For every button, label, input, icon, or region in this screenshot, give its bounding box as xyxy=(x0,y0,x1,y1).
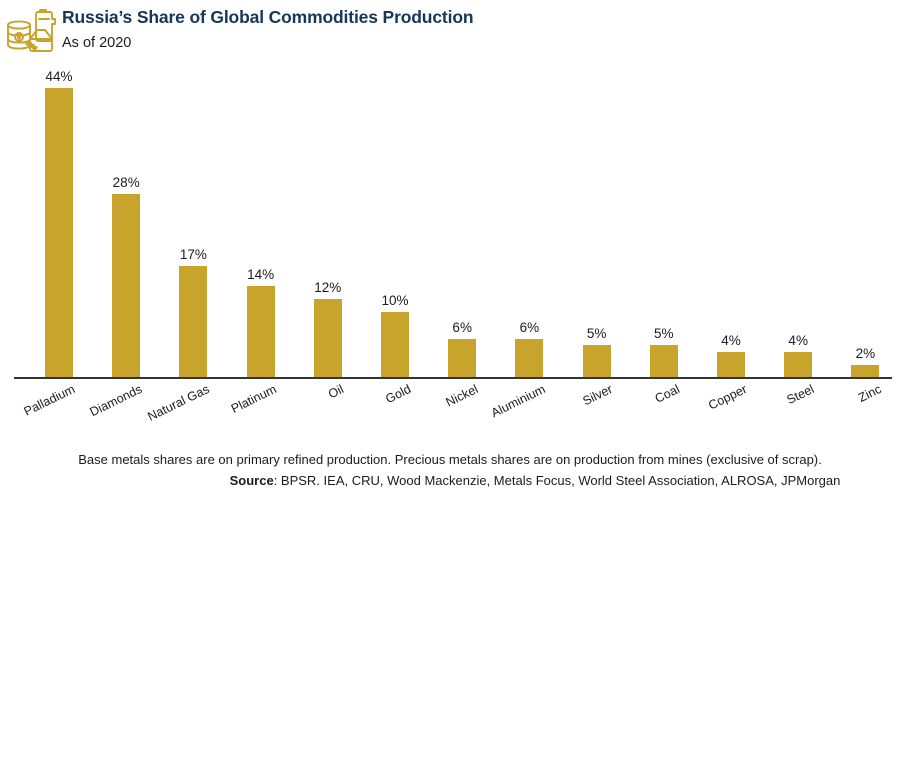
chart-header: Russia’s Share of Global Commodities Pro… xyxy=(0,0,900,62)
bar-group-diamonds: 28% xyxy=(92,62,160,378)
bar-value-label: 6% xyxy=(452,320,472,335)
x-axis-tick-labels: PalladiumDiamondsNatural GasPlatinumOilG… xyxy=(0,382,900,444)
page-title: Russia’s Share of Global Commodities Pro… xyxy=(62,7,473,28)
title-block: Russia’s Share of Global Commodities Pro… xyxy=(62,7,473,53)
bar[interactable] xyxy=(45,88,73,378)
bar-value-label: 6% xyxy=(520,320,540,335)
bar-group-aluminium: 6% xyxy=(495,62,563,378)
bar-value-label: 4% xyxy=(721,333,741,348)
bar-value-label: 28% xyxy=(113,175,140,190)
bar[interactable] xyxy=(784,352,812,378)
bar-value-label: 44% xyxy=(45,69,72,84)
bar-value-label: 12% xyxy=(314,280,341,295)
x-axis-line xyxy=(14,377,892,379)
bar-group-nickel: 6% xyxy=(428,62,496,378)
bar-value-label: 17% xyxy=(180,247,207,262)
bar-group-natural-gas: 17% xyxy=(159,62,227,378)
bar[interactable] xyxy=(515,339,543,379)
bar[interactable] xyxy=(112,194,140,378)
bar-value-label: 2% xyxy=(856,346,876,361)
bar-group-zinc: 2% xyxy=(831,62,899,378)
footnote-source-text: : BPSR. IEA, CRU, Wood Mackenzie, Metals… xyxy=(274,473,841,488)
footnote-note: Base metals shares are on primary refine… xyxy=(0,450,900,469)
bar[interactable] xyxy=(247,286,275,378)
bar[interactable] xyxy=(448,339,476,379)
chart-subtitle: As of 2020 xyxy=(62,33,473,53)
bar[interactable] xyxy=(583,345,611,378)
bar-group-gold: 10% xyxy=(361,62,429,378)
bar-group-platinum: 14% xyxy=(227,62,295,378)
bar-group-oil: 12% xyxy=(294,62,362,378)
bar-group-coal: 5% xyxy=(630,62,698,378)
chart-plot-area: 44%28%17%14%12%10%6%6%5%5%4%4%2% xyxy=(0,62,900,378)
bars-layer: 44%28%17%14%12%10%6%6%5%5%4%4%2% xyxy=(0,62,900,378)
bar-value-label: 10% xyxy=(381,293,408,308)
bar-value-label: 14% xyxy=(247,267,274,282)
bar-group-copper: 4% xyxy=(697,62,765,378)
bar-value-label: 4% xyxy=(788,333,808,348)
bar-group-silver: 5% xyxy=(563,62,631,378)
bar-value-label: 5% xyxy=(587,326,607,341)
bar[interactable] xyxy=(650,345,678,378)
footnotes: Base metals shares are on primary refine… xyxy=(0,450,900,490)
footnote-source: Source: BPSR. IEA, CRU, Wood Mackenzie, … xyxy=(0,471,900,490)
bar[interactable] xyxy=(314,299,342,378)
bar-group-palladium: 44% xyxy=(25,62,93,378)
footnote-source-label: Source xyxy=(230,473,274,488)
commodities-barrel-sack-icon xyxy=(4,6,60,58)
bar-group-steel: 4% xyxy=(764,62,832,378)
bar-value-label: 5% xyxy=(654,326,674,341)
bar[interactable] xyxy=(381,312,409,378)
bar[interactable] xyxy=(179,266,207,378)
bar[interactable] xyxy=(717,352,745,378)
